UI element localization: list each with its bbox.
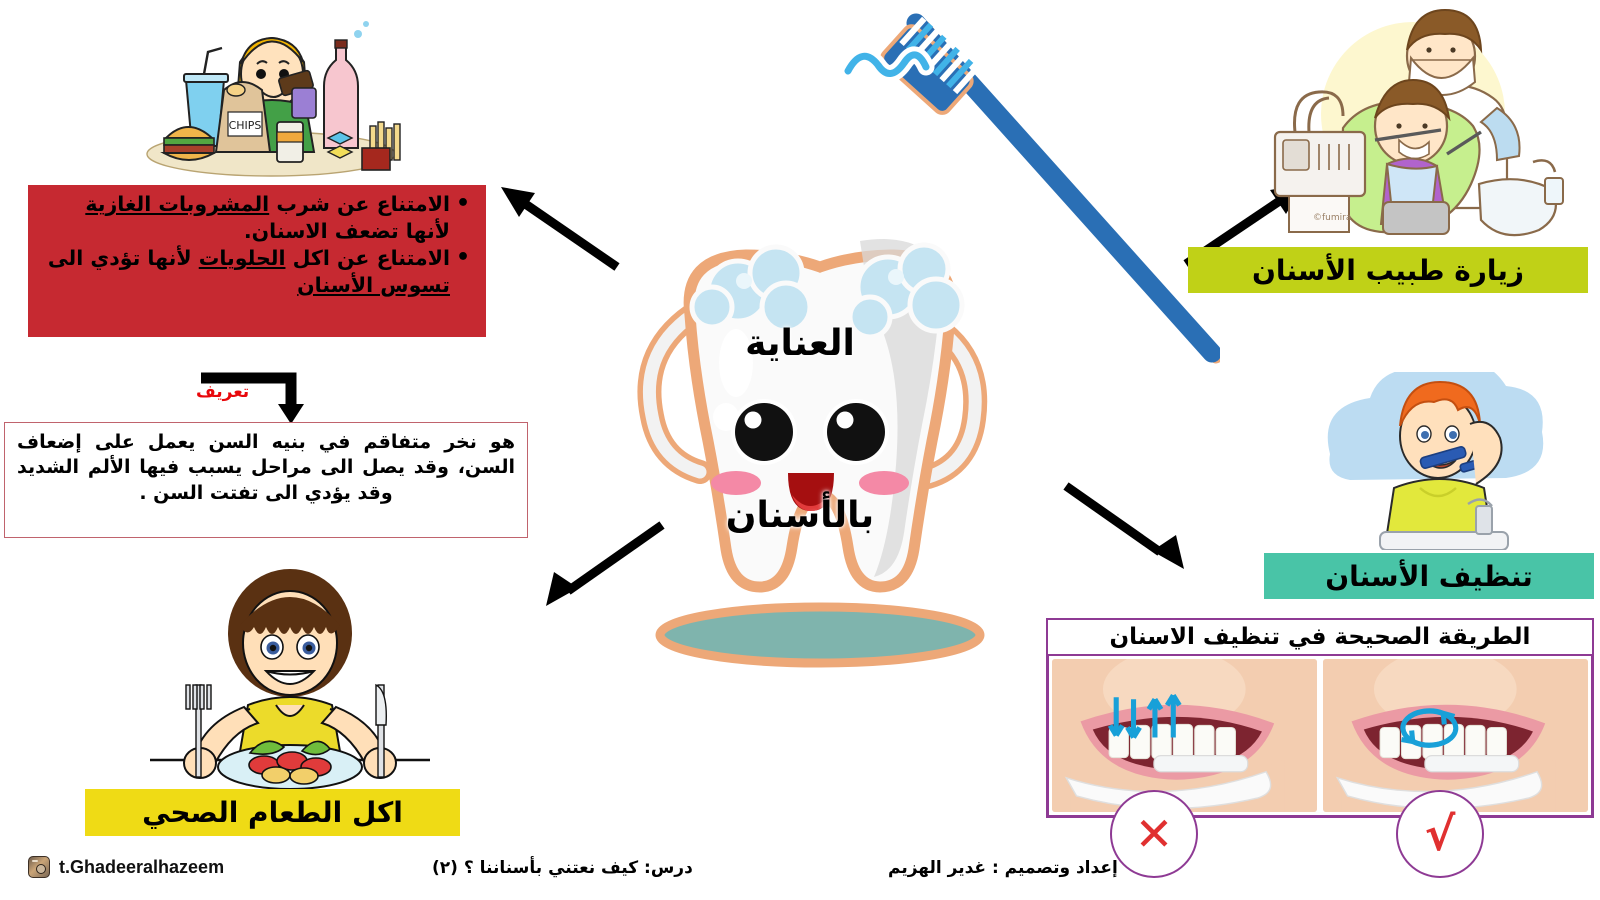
svg-text:©fumira: ©fumira (1313, 213, 1351, 223)
circular-brushing-photo (1323, 659, 1588, 812)
arrow-to-healthy-food (540, 515, 670, 610)
healthy-food-label: اكل الطعام الصحي (85, 789, 460, 836)
dentist-visit-illustration: ©fumira (1245, 4, 1595, 239)
check-mark-badge: √ (1396, 790, 1484, 878)
poster-canvas: CHIPS ا (0, 0, 1600, 900)
healthy-eating-illustration (140, 555, 440, 805)
lesson-title-footer: درس: كيف نعتني بأسناننا ؟ (٢) (432, 858, 693, 878)
warning-bullet-2: الامتناع عن اكل الحلويات لأنها تؤدي الى … (38, 245, 450, 298)
teeth-cleaning-label: تنظيف الأسنان (1264, 553, 1594, 599)
cross-mark-icon: ✕ (1135, 807, 1174, 861)
warning-bullet-list: الامتناع عن شرب المشروبات الغازية لأنها … (38, 191, 472, 299)
brushing-method-photos (1046, 656, 1594, 818)
healthy-food-label-text: اكل الطعام الصحي (142, 796, 403, 829)
brushing-boy-illustration (1272, 372, 1554, 550)
definition-tag-label: تعريف (196, 382, 249, 402)
dentist-visit-label: زيارة طبيب الأسنان (1188, 247, 1588, 293)
instagram-icon (28, 856, 50, 878)
avoid-foods-warning-box: الامتناع عن شرب المشروبات الغازية لأنها … (28, 185, 486, 337)
instagram-credit: t.Ghadeeralhazeem (28, 856, 224, 878)
center-title-line-1: العناية (540, 323, 1060, 364)
junk-food-illustration: CHIPS (132, 2, 410, 180)
definition-box: هو نخر متفاقم في بنيه السن يعمل على إضعا… (4, 422, 528, 538)
brushing-method-title: الطريقة الصحيحة في تنظيف الاسنان (1046, 618, 1594, 656)
instagram-handle-text: t.Ghadeeralhazeem (59, 857, 224, 878)
svg-text:CHIPS: CHIPS (229, 119, 262, 132)
teeth-cleaning-label-text: تنظيف الأسنان (1325, 560, 1533, 593)
vertical-brushing-photo (1052, 659, 1317, 812)
warning-bullet-1: الامتناع عن شرب المشروبات الغازية لأنها … (38, 191, 450, 244)
definition-text: هو نخر متفاقم في بنيه السن يعمل على إضعا… (17, 430, 515, 506)
designer-credit-footer: إعداد وتصميم : غدير الهزيم (888, 858, 1118, 878)
dentist-visit-label-text: زيارة طبيب الأسنان (1252, 254, 1524, 287)
check-mark-icon: √ (1425, 807, 1456, 861)
brushing-method-panel: الطريقة الصحيحة في تنظيف الاسنان (1046, 618, 1594, 818)
arrow-to-junk-food (495, 185, 625, 275)
cross-mark-badge: ✕ (1110, 790, 1198, 878)
